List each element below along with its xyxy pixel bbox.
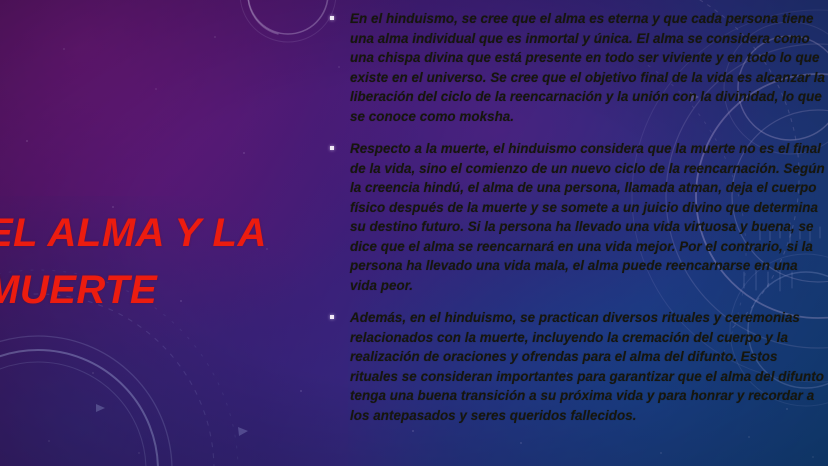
square-bullet-icon [330,146,334,150]
presentation-slide: EL ALMA Y LA MUERTE En el hinduismo, se … [0,0,828,466]
bullet-list-item: Respecto a la muerte, el hinduismo consi… [325,139,828,295]
slide-body-content: En el hinduismo, se cree que el alma es … [325,9,828,425]
bullet-list-item: Además, en el hinduismo, se practican di… [325,308,828,425]
bullet-text: En el hinduismo, se cree que el alma es … [350,11,825,124]
bullet-text: Respecto a la muerte, el hinduismo consi… [350,141,825,293]
square-bullet-icon [330,16,334,20]
square-bullet-icon [330,315,334,319]
bullet-list-item: En el hinduismo, se cree que el alma es … [325,9,828,126]
slide-title: EL ALMA Y LA MUERTE [0,205,306,319]
bullet-text: Además, en el hinduismo, se practican di… [350,310,824,423]
